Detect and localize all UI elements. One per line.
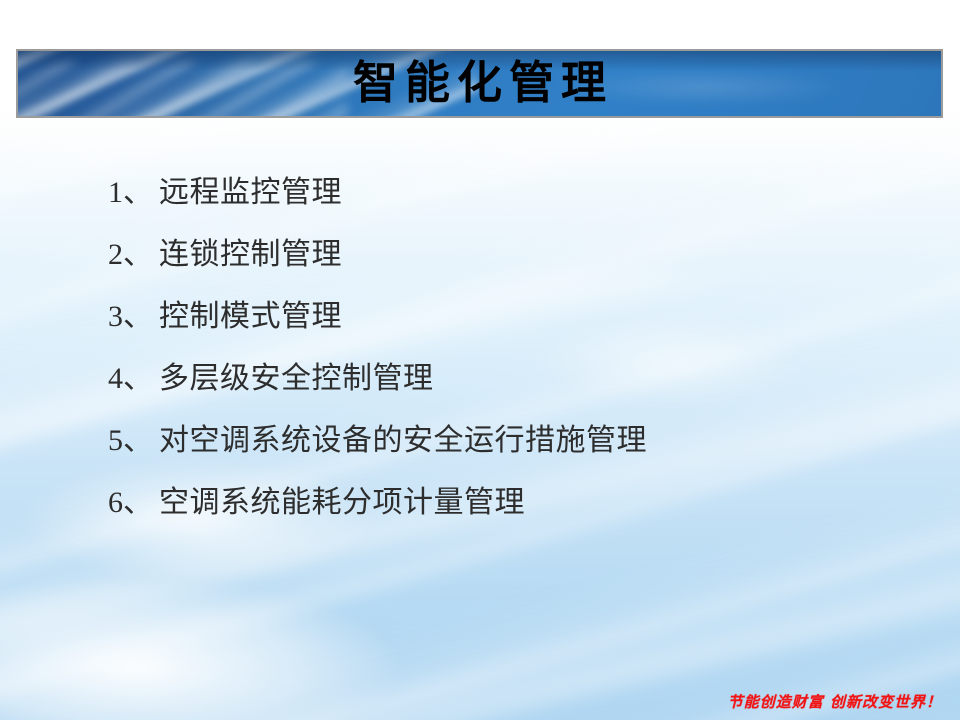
presentation-slide: 智能化管理 1 、 远程监控管理 2 、 连锁控制管理 3 、 控制模式管理 4… [0,0,960,720]
list-item: 5 、 对空调系统设备的安全运行措施管理 [108,410,908,472]
list-item-label: 连锁控制管理 [159,224,342,286]
list-item: 3 、 控制模式管理 [108,286,908,348]
list-item-label: 远程监控管理 [159,162,342,224]
list-item-label: 对空调系统设备的安全运行措施管理 [159,410,647,472]
content-list: 1 、 远程监控管理 2 、 连锁控制管理 3 、 控制模式管理 4 、 多层级… [108,162,908,534]
list-item-label: 多层级安全控制管理 [159,348,434,410]
list-item-separator: 、 [123,472,159,534]
list-item: 4 、 多层级安全控制管理 [108,348,908,410]
list-item-number: 4 [108,348,123,410]
list-item-separator: 、 [123,162,159,224]
footer-slogan: 节能创造财富 创新改变世界！ [728,691,942,712]
list-item: 1 、 远程监控管理 [108,162,908,224]
list-item-label: 控制模式管理 [159,286,342,348]
list-item-number: 3 [108,286,123,348]
cloud-bottomleft [0,530,540,720]
list-item-number: 2 [108,224,123,286]
list-item: 2 、 连锁控制管理 [108,224,908,286]
slide-title: 智能化管理 [18,51,941,116]
title-banner: 智能化管理 [16,49,943,118]
list-item-number: 6 [108,472,123,534]
list-item-separator: 、 [123,348,159,410]
list-item-separator: 、 [123,410,159,472]
list-item-number: 1 [108,162,123,224]
list-item-number: 5 [108,410,123,472]
list-item-separator: 、 [123,286,159,348]
list-item-label: 空调系统能耗分项计量管理 [159,472,525,534]
list-item-separator: 、 [123,224,159,286]
list-item: 6 、 空调系统能耗分项计量管理 [108,472,908,534]
